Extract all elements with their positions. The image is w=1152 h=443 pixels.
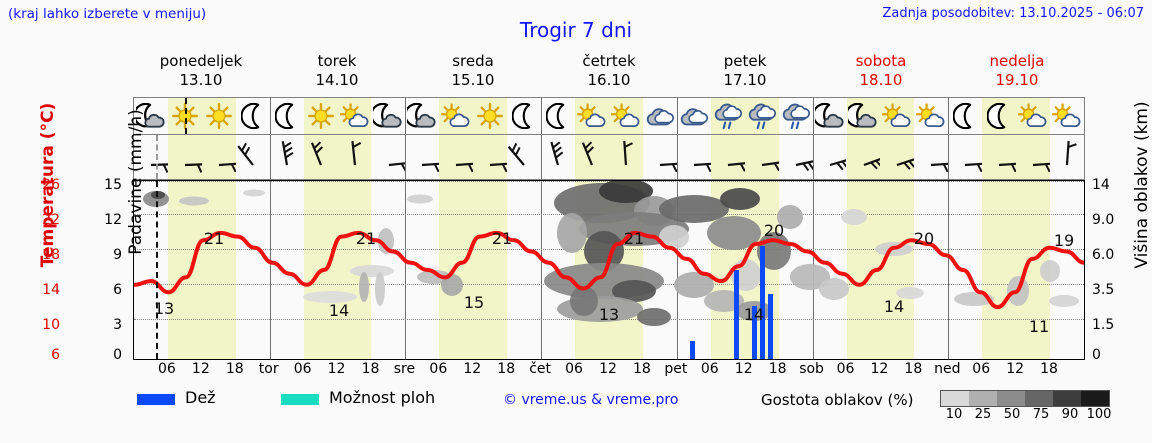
- wind-barb-icon: [677, 135, 711, 179]
- day-date: 17.10: [677, 71, 813, 90]
- current-time-marker: [185, 98, 187, 134]
- day-name: sobota: [856, 52, 907, 70]
- day-header-4: petek 17.10: [677, 52, 813, 92]
- page-title: Trogir 7 dni: [0, 18, 1152, 42]
- current-time-marker: [156, 135, 158, 179]
- x-hour-label: 18: [362, 361, 380, 377]
- x-hour-label: 12: [735, 361, 753, 377]
- wind-barb-icon: [779, 135, 813, 179]
- wind-barb-icon: [439, 135, 473, 179]
- cloud-icon: [643, 98, 677, 134]
- day-header-3: četrtek 16.10: [541, 52, 677, 92]
- cloud-density-tick-label: 50: [1004, 407, 1021, 422]
- moon-cloud-icon: [405, 98, 439, 134]
- temperature-curve: [134, 181, 1084, 359]
- x-hour-label: 12: [328, 361, 346, 377]
- day-header-2: sreda 15.10: [405, 52, 541, 92]
- wind-barb-icon: [372, 135, 406, 179]
- sun-cloud-icon: [338, 98, 372, 134]
- day-name: sreda: [452, 52, 494, 70]
- moon-icon: [270, 98, 304, 134]
- cloud-density-tick-label: 10: [946, 407, 963, 422]
- rain-legend-swatch: [137, 394, 175, 405]
- day-name: torek: [318, 52, 357, 70]
- x-hour-label: 06: [429, 361, 447, 377]
- cloud-density-swatch: [1081, 391, 1109, 406]
- cloud-rain-icon: [745, 98, 779, 134]
- temperature-tick-label: 22: [42, 212, 60, 228]
- precipitation-axis-title: Padavine (mm/h): [126, 72, 146, 292]
- wind-barb-icon: [914, 135, 948, 179]
- cloud-icon: [677, 98, 711, 134]
- temperature-max-label: 19: [1054, 231, 1074, 250]
- moon-icon: [541, 98, 575, 134]
- temperature-min-label: 13: [154, 299, 174, 318]
- cloud-density-swatch: [997, 391, 1025, 406]
- cloud-rain-icon: [711, 98, 745, 134]
- cloud-density-scale-labels: 1025507590100: [933, 407, 1123, 425]
- temperature-max-label: 21: [492, 229, 512, 248]
- cloud-density-legend-title: Gostota oblakov (%): [761, 391, 914, 409]
- cloud-height-tick-label: 0: [1092, 347, 1101, 363]
- wind-barb-icon: [982, 135, 1016, 179]
- temperature-min-label: 15: [464, 293, 484, 312]
- precipitation-tick-label: 12: [100, 212, 122, 228]
- sun-icon: [304, 98, 338, 134]
- temperature-max-label: 21: [624, 229, 644, 248]
- wind-barb-icon: [541, 135, 575, 179]
- temperature-max-label: 20: [764, 221, 784, 240]
- day-date: 14.10: [269, 71, 405, 90]
- moon-icon: [982, 98, 1016, 134]
- x-hour-label: 18: [1040, 361, 1058, 377]
- temperature-max-label: 21: [204, 229, 224, 248]
- temperature-min-label: 11: [1029, 317, 1049, 336]
- day-header-row: ponedeljek 13.10 torek 14.10 sreda 15.10…: [133, 52, 1085, 92]
- day-date: 15.10: [405, 71, 541, 90]
- cloud-height-tick-label: 3.5: [1092, 282, 1114, 298]
- x-day-label: ned: [934, 361, 960, 377]
- day-header-1: torek 14.10: [269, 52, 405, 92]
- x-day-label: čet: [529, 361, 551, 377]
- weather-icon-row: [133, 97, 1085, 135]
- temperature-tick-label: 18: [42, 247, 60, 263]
- wind-barb-icon: [745, 135, 779, 179]
- sun-cloud-icon: [575, 98, 609, 134]
- day-header-5: sobota 18.10: [813, 52, 949, 92]
- x-day-label: sob: [799, 361, 824, 377]
- sun-cloud-icon: [1050, 98, 1084, 134]
- wind-barb-icon: [202, 135, 236, 179]
- forecast-plot: 132114211521132114201420111915: [133, 180, 1085, 360]
- x-day-label: tor: [259, 361, 279, 377]
- precipitation-tick-label: 6: [100, 282, 122, 298]
- wind-barb-icon: [813, 135, 847, 179]
- sun-cloud-icon: [880, 98, 914, 134]
- cloud-density-tick-label: 100: [1087, 407, 1112, 422]
- precipitation-tick-label: 0: [100, 347, 122, 363]
- sun-cloud-icon: [1016, 98, 1050, 134]
- x-hour-label: 06: [294, 361, 312, 377]
- temperature-max-label: 20: [914, 229, 934, 248]
- temperature-tick-label: 14: [42, 282, 60, 298]
- moon-icon: [507, 98, 541, 134]
- sun-icon: [202, 98, 236, 134]
- temperature-tick-label: 26: [42, 177, 60, 193]
- x-hour-label: 18: [226, 361, 244, 377]
- wind-barb-icon: [1016, 135, 1050, 179]
- x-hour-label: 06: [701, 361, 719, 377]
- wind-barb-icon: [948, 135, 982, 179]
- cloud-density-scale: [940, 390, 1110, 407]
- temperature-min-label: 14: [744, 305, 764, 324]
- wind-barb-icon: [270, 135, 304, 179]
- showers-legend-swatch: [281, 394, 319, 405]
- x-hour-label: 06: [837, 361, 855, 377]
- legend: Dež Možnost ploh © vreme.us & vreme.pro …: [133, 388, 1152, 434]
- moon-cloud-icon: [372, 98, 406, 134]
- precipitation-tick-label: 15: [100, 177, 122, 193]
- day-date: 13.10: [133, 71, 269, 90]
- moon-cloud-icon: [813, 98, 847, 134]
- x-day-label: pet: [664, 361, 687, 377]
- moon-icon: [236, 98, 270, 134]
- cloud-density-swatch: [941, 391, 969, 406]
- sun-icon: [473, 98, 507, 134]
- wind-barb-icon: [473, 135, 507, 179]
- x-hour-label: 12: [871, 361, 889, 377]
- wind-barb-icon: [575, 135, 609, 179]
- sun-cloud-icon: [439, 98, 473, 134]
- x-hour-label: 06: [158, 361, 176, 377]
- x-hour-label: 12: [1006, 361, 1024, 377]
- x-hour-label: 18: [633, 361, 651, 377]
- x-hour-label: 18: [769, 361, 787, 377]
- cloud-density-tick-label: 90: [1062, 407, 1079, 422]
- day-header-6: nedelja 19.10: [949, 52, 1085, 92]
- temperature-min-label: 13: [599, 305, 619, 324]
- cloud-density-tick-label: 25: [975, 407, 992, 422]
- wind-barb-icon: [405, 135, 439, 179]
- wind-barb-icon: [338, 135, 372, 179]
- x-hour-label: 12: [599, 361, 617, 377]
- x-hour-label: 12: [192, 361, 210, 377]
- wind-barb-icon: [711, 135, 745, 179]
- x-hour-label: 06: [972, 361, 990, 377]
- wind-barb-icon: [847, 135, 881, 179]
- sun-cloud-icon: [609, 98, 643, 134]
- last-update-text: Zadnja posodobitev: 13.10.2025 - 06:07: [882, 6, 1144, 21]
- cloud-rain-icon: [779, 98, 813, 134]
- temperature-tick-label: 6: [51, 347, 60, 363]
- x-hour-label: 12: [463, 361, 481, 377]
- x-axis-labels: 061218tor061218sre061218čet061218pet0612…: [133, 361, 1085, 381]
- x-hour-label: 18: [497, 361, 515, 377]
- wind-barb-icon: [643, 135, 677, 179]
- cloud-height-tick-label: 9.0: [1092, 212, 1114, 228]
- x-day-label: sre: [394, 361, 415, 377]
- cloud-height-tick-label: 6.0: [1092, 247, 1114, 263]
- day-name: petek: [724, 52, 767, 70]
- x-hour-label: 06: [565, 361, 583, 377]
- cloud-height-tick-label: 1.5: [1092, 317, 1114, 333]
- wind-barb-icon: [1050, 135, 1084, 179]
- day-date: 18.10: [813, 71, 949, 90]
- cloud-density-swatch: [1025, 391, 1053, 406]
- moon-cloud-icon: [847, 98, 881, 134]
- x-hour-label: 18: [904, 361, 922, 377]
- day-name: četrtek: [582, 52, 635, 70]
- cloud-height-tick-label: 14: [1092, 177, 1110, 193]
- cloud-height-axis-title: Višina oblakov (km): [1132, 75, 1152, 295]
- wind-barb-icon: [168, 135, 202, 179]
- precipitation-tick-label: 9: [100, 247, 122, 263]
- copyright-text[interactable]: © vreme.us & vreme.pro: [503, 392, 678, 408]
- cloud-density-swatch: [1053, 391, 1081, 406]
- temperature-min-label: 14: [329, 301, 349, 320]
- wind-barb-icon: [880, 135, 914, 179]
- wind-barb-row: [133, 135, 1085, 180]
- temperature-min-label: 14: [884, 297, 904, 316]
- wind-barb-icon: [507, 135, 541, 179]
- precipitation-tick-label: 3: [100, 317, 122, 333]
- showers-legend-label: Možnost ploh: [329, 388, 435, 407]
- rain-legend-label: Dež: [185, 388, 216, 407]
- cloud-density-tick-label: 75: [1033, 407, 1050, 422]
- wind-barb-icon: [304, 135, 338, 179]
- day-date: 19.10: [949, 71, 1085, 90]
- temperature-max-label: 21: [356, 229, 376, 248]
- moon-icon: [948, 98, 982, 134]
- cloud-density-swatch: [969, 391, 997, 406]
- day-date: 16.10: [541, 71, 677, 90]
- day-name: nedelja: [989, 52, 1044, 70]
- day-header-0: ponedeljek 13.10: [133, 52, 269, 92]
- wind-barb-icon: [609, 135, 643, 179]
- sun-cloud-icon: [914, 98, 948, 134]
- temperature-tick-label: 10: [42, 317, 60, 333]
- wind-barb-icon: [236, 135, 270, 179]
- current-time-marker: [156, 181, 158, 359]
- day-name: ponedeljek: [160, 52, 242, 70]
